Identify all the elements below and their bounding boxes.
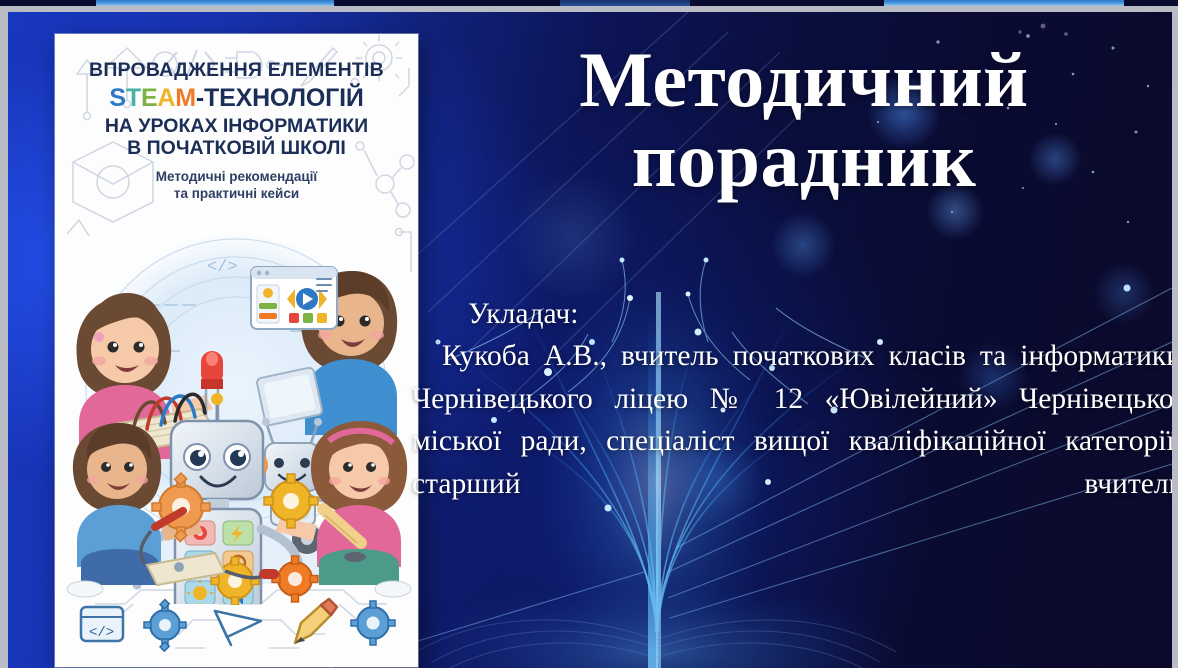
- cover-illustration: </>: [55, 209, 418, 604]
- steam-letter-m: M: [175, 84, 196, 112]
- presentation-slide-view: ВПРОВАДЖЕННЯ ЕЛЕМЕНТІВ STEAM-ТЕХНОЛОГІЙ …: [0, 0, 1178, 668]
- code-window-icon: </>: [81, 607, 123, 641]
- steam-letter-a: A: [157, 84, 175, 112]
- cover-title-steam: STEAM-ТЕХНОЛОГІЙ: [55, 84, 418, 112]
- bokeh-orb: [770, 212, 836, 278]
- cover-code-symbol: </>: [207, 258, 238, 277]
- slide-title-line1: Методичний: [579, 36, 1028, 123]
- cover-title-line3: НА УРОКАХ ІНФОРМАТИКИ: [55, 115, 418, 138]
- steam-letter-t: T: [126, 84, 141, 112]
- cover-steam-suffix: -ТЕХНОЛОГІЙ: [196, 84, 364, 112]
- slide-title: Методичний порадник: [448, 40, 1160, 201]
- compiler-label: Укладач:: [412, 293, 1172, 335]
- slide-body-text: Укладач: Кукоба А.В., вчитель початкових…: [412, 293, 1172, 548]
- page-frame-right: [1172, 9, 1178, 668]
- cover-title-block: ВПРОВАДЖЕННЯ ЕЛЕМЕНТІВ STEAM-ТЕХНОЛОГІЙ …: [55, 60, 418, 202]
- pencil-icon: [295, 599, 337, 643]
- cover-title-line1: ВПРОВАДЖЕННЯ ЕЛЕМЕНТІВ: [55, 60, 418, 82]
- sliver-gutter: [0, 6, 1178, 9]
- svg-text:</>: </>: [89, 625, 114, 641]
- cover-subtitle-line1: Методичні рекомендації: [55, 169, 418, 185]
- slide-title-line2: порадник: [448, 120, 1160, 200]
- cover-subtitle-line2: та практичні кейси: [55, 186, 418, 202]
- book-cover-image: ВПРОВАДЖЕННЯ ЕЛЕМЕНТІВ STEAM-ТЕХНОЛОГІЙ …: [55, 34, 418, 667]
- cover-footer-icons: </>: [55, 597, 418, 659]
- page-frame-left: [0, 9, 8, 668]
- steam-letter-e: E: [141, 84, 157, 112]
- previous-slide-sliver: [0, 0, 1178, 9]
- steam-letter-s: S: [109, 84, 125, 112]
- slide-canvas: ВПРОВАДЖЕННЯ ЕЛЕМЕНТІВ STEAM-ТЕХНОЛОГІЙ …: [8, 12, 1172, 668]
- gear-icon: [351, 601, 395, 645]
- cover-title-line4: В ПОЧАТКОВІЙ ШКОЛІ: [55, 137, 418, 160]
- compiler-details: Кукоба А.В., вчитель початкових класів т…: [412, 335, 1172, 547]
- gear-icon: [144, 600, 186, 652]
- paper-plane-icon: [215, 611, 261, 645]
